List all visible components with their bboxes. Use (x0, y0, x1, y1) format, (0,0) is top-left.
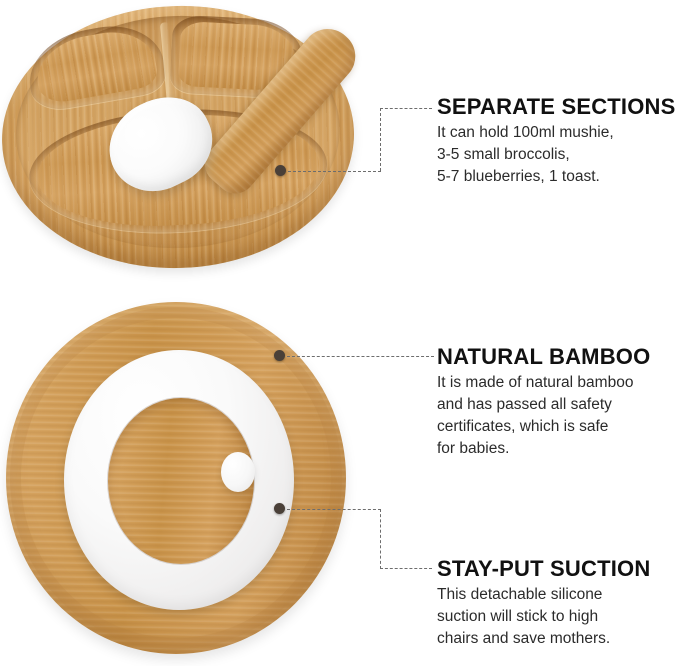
callout-line: It is made of natural bamboo (437, 372, 650, 394)
callout-body-stay-put-suction: This detachable silicone suction will st… (437, 584, 650, 650)
callout-body-natural-bamboo: It is made of natural bamboo and has pas… (437, 372, 650, 460)
callout-dot-natural-bamboo (274, 350, 285, 361)
suction-pull-tab (221, 452, 255, 492)
callout-line: 3-5 small broccolis, (437, 144, 676, 166)
leader-line-separate-sections-horizontal (288, 171, 381, 172)
bamboo-plate-top (0, 0, 358, 274)
callout-line: and has passed all safety (437, 394, 650, 416)
bamboo-plate-underside (6, 302, 346, 654)
leader-line-natural-bamboo (287, 356, 434, 357)
callout-line: for babies. (437, 438, 650, 460)
callout-line: chairs and save mothers. (437, 628, 650, 650)
callout-line: suction will stick to high (437, 606, 650, 628)
section-floor (31, 25, 160, 106)
callout-line: 5-7 blueberries, 1 toast. (437, 166, 676, 188)
callout-title-separate-sections: SEPARATE SECTIONS (437, 95, 676, 119)
product-image-divided-plate (2, 6, 354, 278)
callout-line: It can hold 100ml mushie, (437, 122, 676, 144)
callout-separate-sections: SEPARATE SECTIONS It can hold 100ml mush… (437, 95, 676, 188)
callout-title-stay-put-suction: STAY-PUT SUCTION (437, 557, 650, 581)
plate-section-upper-right (169, 14, 305, 99)
silicone-suction-ring (64, 350, 294, 610)
leader-line-stay-put-suction-vertical (380, 509, 381, 569)
callout-natural-bamboo: NATURAL BAMBOO It is made of natural bam… (437, 345, 650, 460)
leader-line-separate-sections-vertical (380, 108, 381, 171)
callout-stay-put-suction: STAY-PUT SUCTION This detachable silicon… (437, 557, 650, 650)
section-floor (178, 21, 297, 92)
callout-title-natural-bamboo: NATURAL BAMBOO (437, 345, 650, 369)
callout-dot-stay-put-suction (274, 503, 285, 514)
leader-line-separate-sections-to-text (380, 108, 432, 109)
leader-line-stay-put-suction-to-text (380, 568, 432, 569)
infographic-canvas: SEPARATE SECTIONS It can hold 100ml mush… (0, 0, 679, 666)
leader-line-stay-put-suction-horizontal (287, 509, 381, 510)
callout-dot-separate-sections (275, 165, 286, 176)
callout-line: This detachable silicone (437, 584, 650, 606)
callout-line: certificates, which is safe (437, 416, 650, 438)
callout-body-separate-sections: It can hold 100ml mushie, 3-5 small broc… (437, 122, 676, 188)
